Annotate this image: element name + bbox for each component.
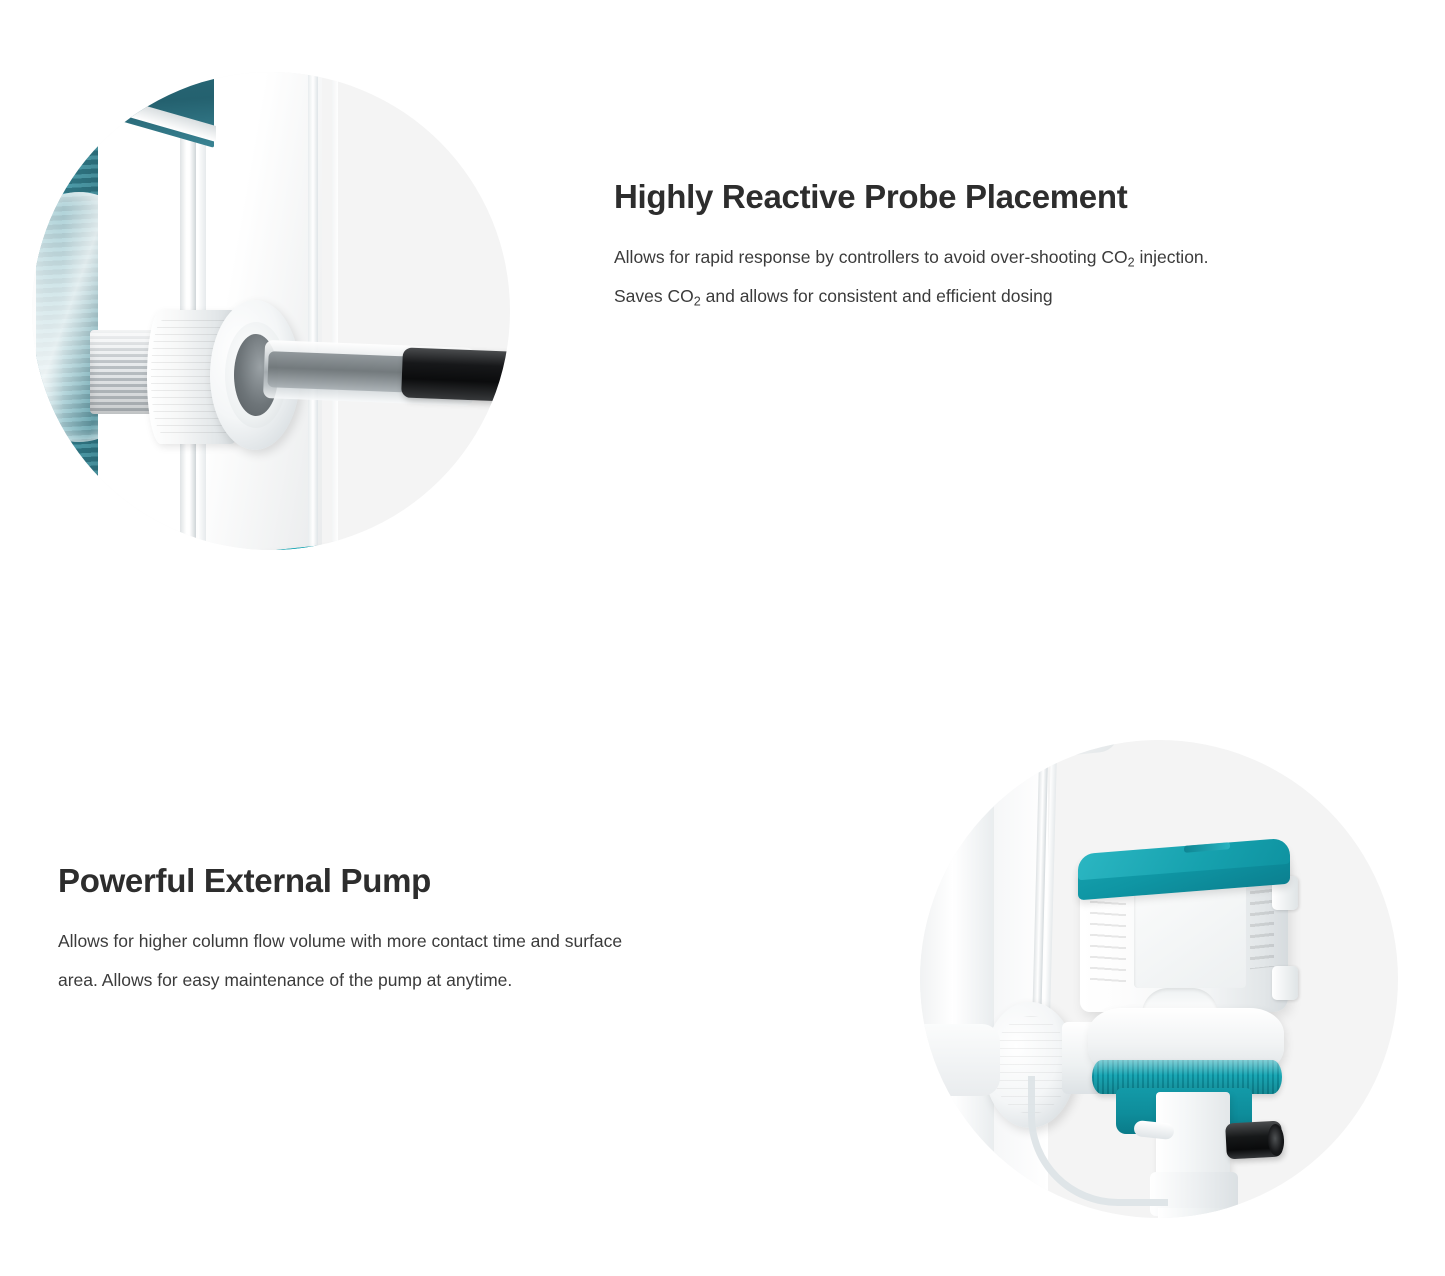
external-pump-text: Powerful External Pump Allows for higher… (58, 862, 848, 1001)
external-pump-photo (920, 740, 1398, 1218)
description-line-1: Allows for rapid response by controllers… (614, 238, 1404, 277)
product-features-page: Highly Reactive Probe Placement Allows f… (0, 0, 1445, 1276)
probe-placement-description: Allows for rapid response by controllers… (614, 238, 1404, 317)
probe-placement-illustration (32, 72, 510, 550)
page-title-probe-placement: Highly Reactive Probe Placement (614, 178, 1404, 216)
desc-2-text-a: area. Allows for easy maintenance of the… (58, 970, 512, 990)
desc-2-subscript: 2 (694, 295, 701, 309)
clear-return-tube (1028, 1076, 1168, 1206)
probe-shaft (267, 351, 418, 393)
riser-pipe (1158, 1208, 1232, 1218)
inlet-pipe (920, 1024, 1000, 1096)
desc-1-text-b: injection. (1135, 247, 1209, 267)
acrylic-pillar-4 (332, 72, 338, 550)
external-pump-description: Allows for higher column flow volume wit… (58, 922, 848, 1001)
desc-1-text-a: Allows for higher column flow volume wit… (58, 931, 622, 951)
acrylic-pillar-3 (308, 72, 318, 550)
probe-placement-photo (32, 72, 510, 550)
probe-black-tip (401, 347, 510, 402)
desc-2-text-b: and allows for consistent and efficient … (701, 286, 1053, 306)
desc-1-subscript: 2 (1128, 255, 1135, 269)
acrylic-wall-slab (920, 740, 1000, 1218)
desc-1-text-a: Allows for rapid response by controllers… (614, 247, 1128, 267)
page-title-external-pump: Powerful External Pump (58, 862, 848, 900)
description-line-2: Saves CO2 and allows for consistent and … (614, 277, 1404, 316)
pump-cooling-ribs-right (1250, 889, 1274, 970)
desc-2-text-a: Saves CO (614, 286, 694, 306)
description-line-2: area. Allows for easy maintenance of the… (58, 961, 848, 1000)
description-line-1: Allows for higher column flow volume wit… (58, 922, 848, 961)
external-pump-illustration (920, 740, 1398, 1218)
probe-placement-text: Highly Reactive Probe Placement Allows f… (614, 178, 1404, 317)
mounting-hook (1044, 740, 1121, 758)
mounting-bracket-bottom (1272, 966, 1298, 1000)
